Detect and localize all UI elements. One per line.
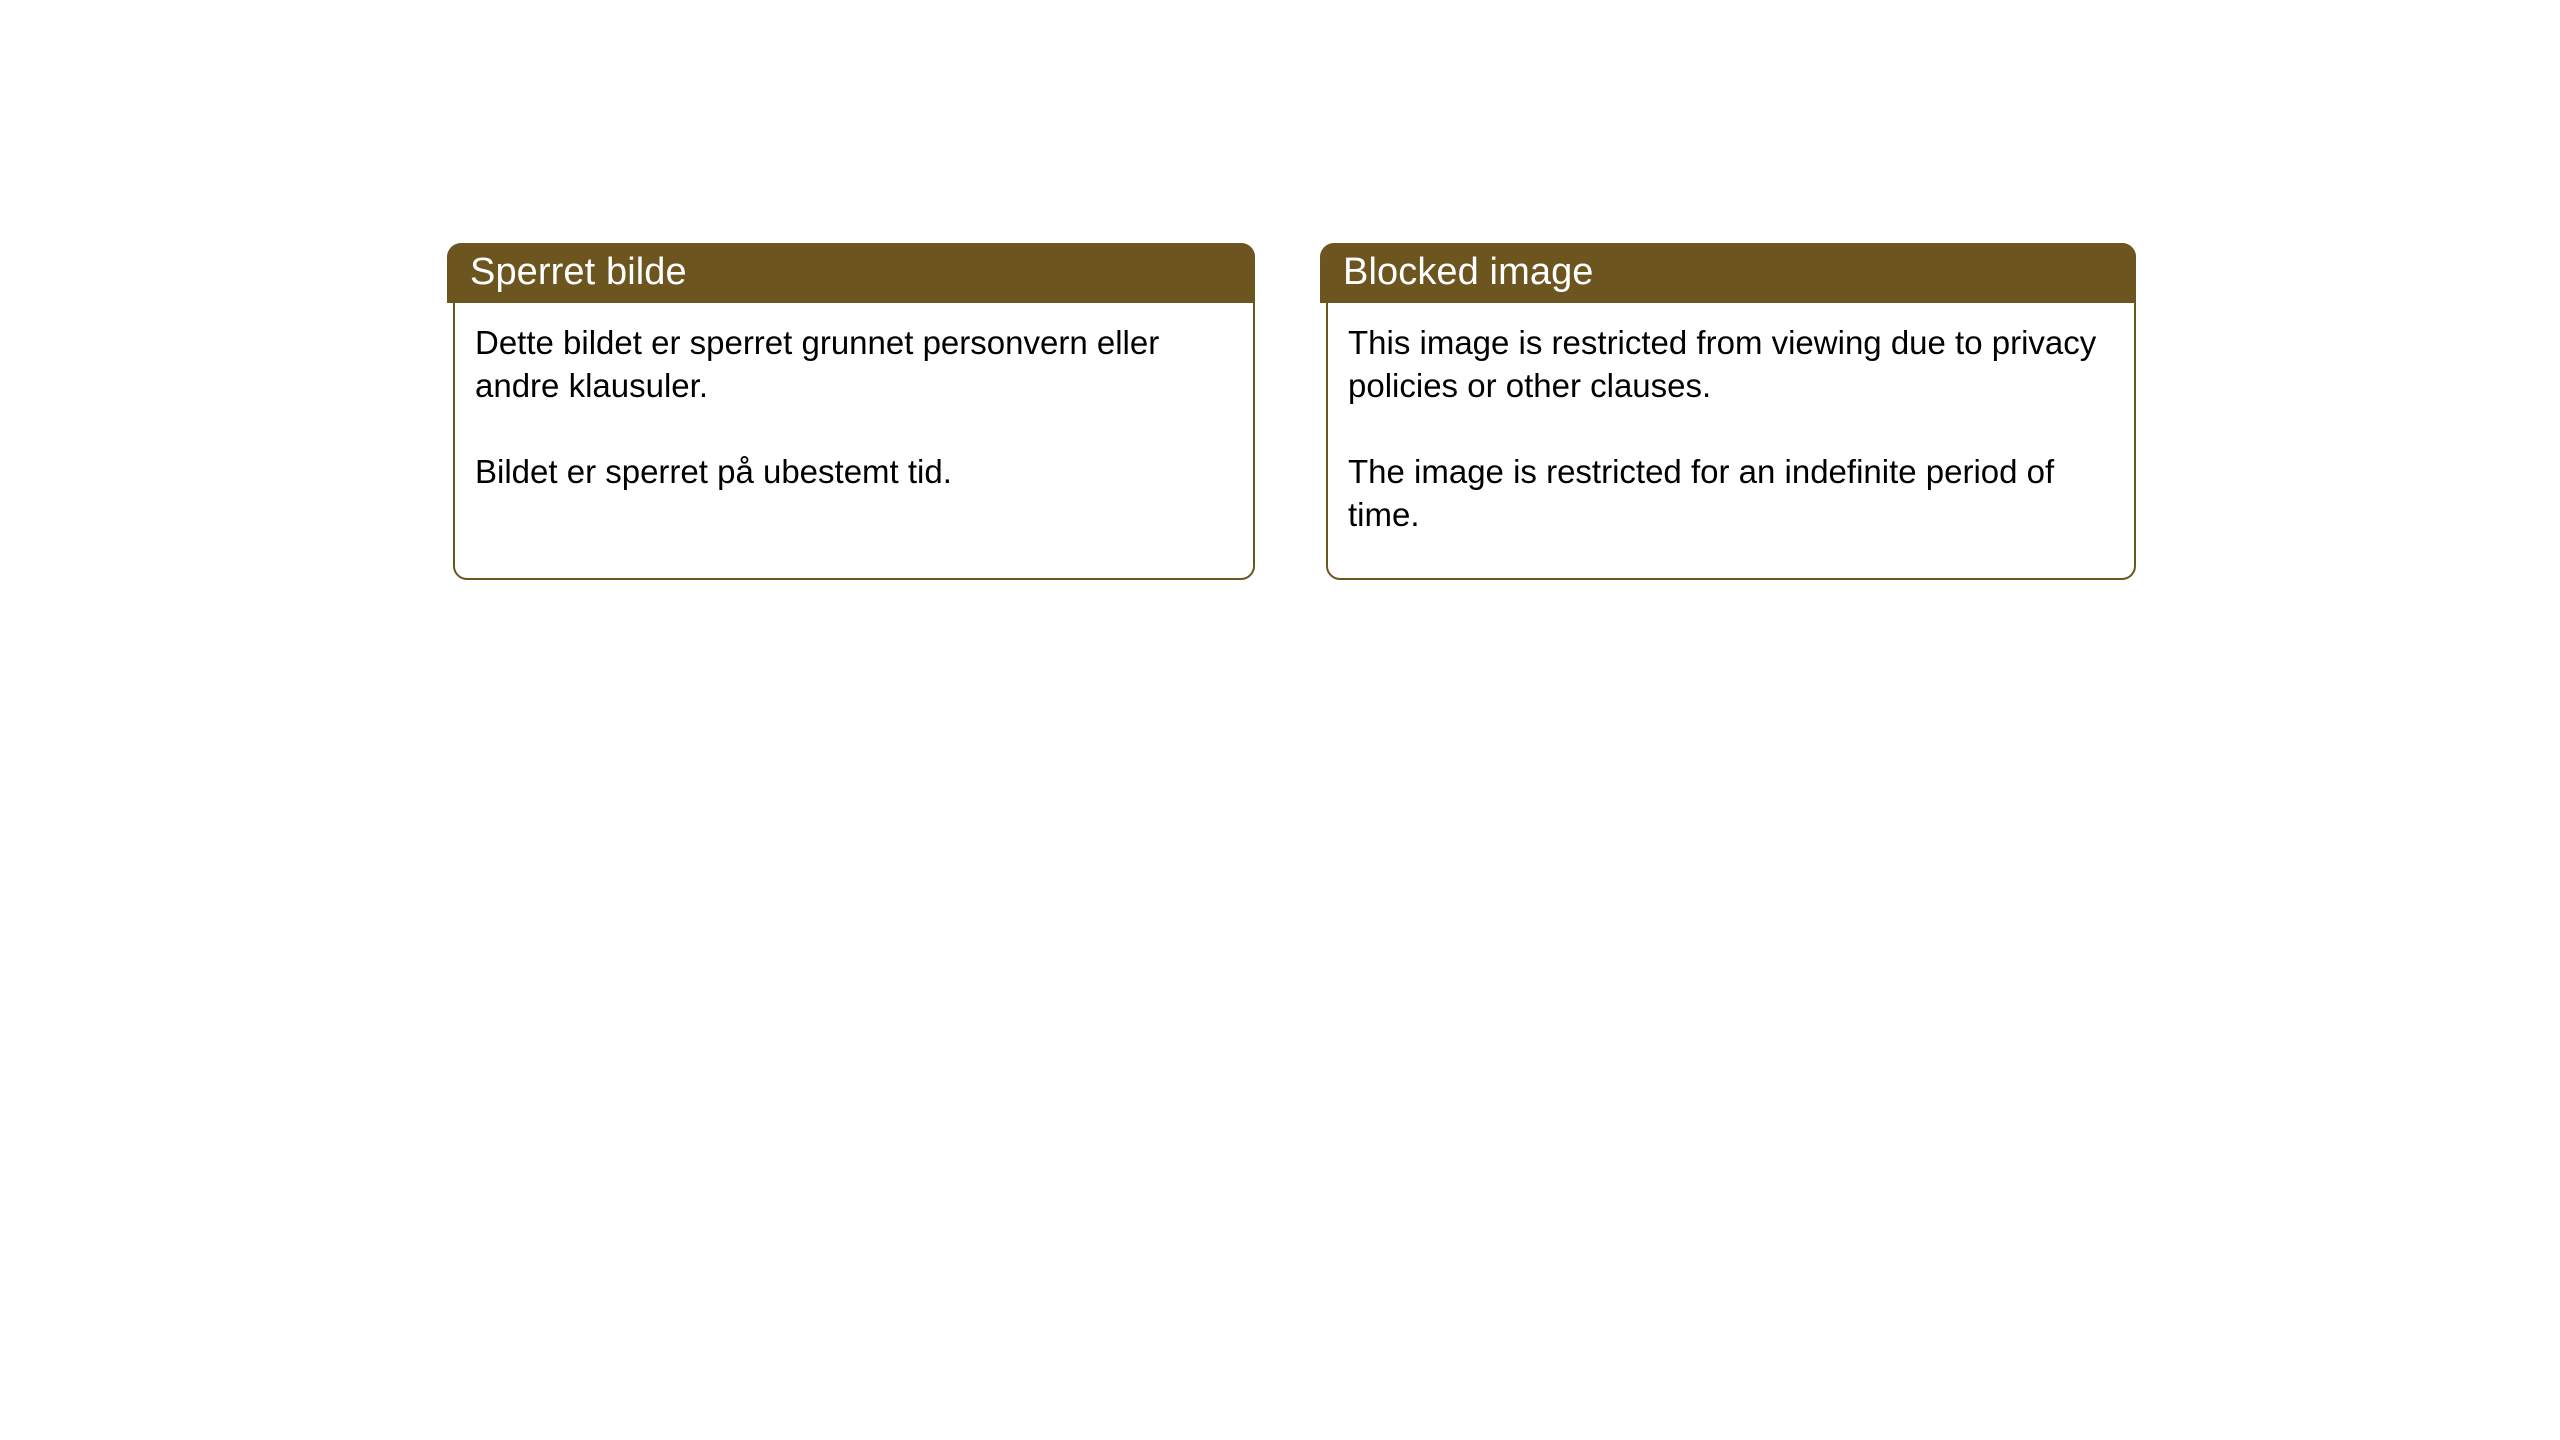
blocked-image-notice-en: Blocked image This image is restricted f… [1326,243,2136,580]
notice-paragraph-en-1: This image is restricted from viewing du… [1348,321,2114,407]
notice-paragraph-en-2: The image is restricted for an indefinit… [1348,450,2114,536]
notice-header-en: Blocked image [1320,243,2136,303]
notice-title-no: Sperret bilde [447,253,687,291]
notice-paragraph-no-2: Bildet er sperret på ubestemt tid. [475,450,1233,493]
notice-content-en: This image is restricted from viewing du… [1326,303,2136,580]
notice-content-no: Dette bildet er sperret grunnet personve… [453,303,1255,580]
blocked-image-notice-no: Sperret bilde Dette bildet er sperret gr… [453,243,1255,580]
notice-paragraph-no-1: Dette bildet er sperret grunnet personve… [475,321,1233,407]
notice-title-en: Blocked image [1320,253,1594,291]
notice-header-no: Sperret bilde [447,243,1255,303]
page-canvas: Sperret bilde Dette bildet er sperret gr… [0,0,2560,1440]
